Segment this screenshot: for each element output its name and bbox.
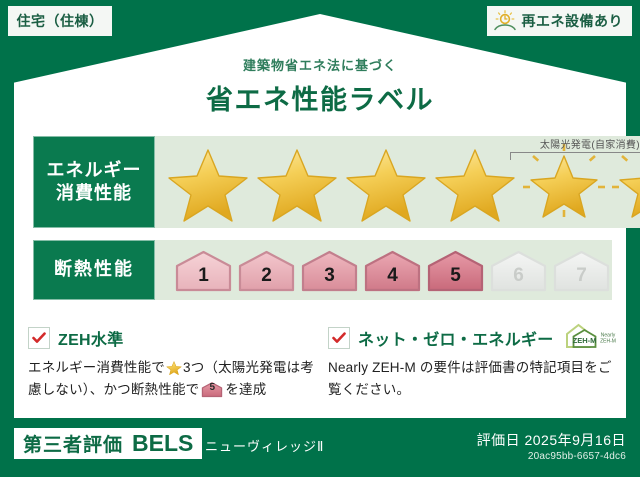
note-zeh-header: ZEH水準 [28,326,320,350]
inline-insulation-badge-value: 5 [201,381,223,398]
checkbox-net-zero-energy [328,327,350,349]
renewable-energy-label: 再エネ設備あり [522,11,624,31]
bels-plate: 第三者評価 BELS [14,428,202,459]
title-block: 建築物省エネ法に基づく 省エネ性能ラベル [0,55,640,117]
label-subtitle: 建築物省エネ法に基づく [0,55,640,74]
insulation-level-value: 7 [576,266,587,292]
energy-label-line1: エネルギー [47,159,142,182]
note-zeh-standard: ZEH水準 エネルギー消費性能で3つ（太陽光発電は考慮しない）、かつ断熱性能で5… [28,326,320,405]
building-type-label: 住宅（住棟） [17,11,104,31]
star-filled [165,142,251,222]
note-nze-header: ネット・ゼロ・エネルギー ZEH-M Nearly ZEH-M [328,326,616,350]
star-filled [254,142,340,222]
building-type-tag: 住宅（住棟） [8,6,112,36]
check-icon [332,332,346,344]
insulation-level-value: 2 [261,266,272,292]
star-filled-solar [610,142,640,222]
renewable-energy-badge: 再エネ設備あり [487,6,633,36]
star-filled [432,142,518,222]
note-nze-title: ネット・ゼロ・エネルギー [358,326,554,350]
sun-icon [492,10,518,32]
property-name: ニューヴィレッジⅡ [205,436,324,455]
note-zeh-title: ZEH水準 [58,326,124,350]
insulation-level-value: 3 [324,266,335,292]
inline-star-icon [166,360,182,375]
note-net-zero-energy: ネット・ゼロ・エネルギー ZEH-M Nearly ZEH-M Nearly Z… [328,326,616,401]
insulation-level-badge: 1 [173,249,234,292]
note-zeh-body-part3: を達成 [225,382,266,397]
zeh-m-logo-sub2: ZEH-M [600,338,616,344]
third-party-eval-label: 第三者評価 [23,430,123,457]
insulation-performance-row-label: 断熱性能 [33,240,155,300]
star-filled-solar [521,142,607,222]
zeh-m-logo: ZEH-M Nearly ZEH-M [564,323,622,354]
checkbox-zeh [28,327,50,349]
insulation-performance-row-body: 1 2 3 4 [155,240,612,300]
insulation-level-badge: 4 [362,249,423,292]
note-zeh-body-part1: エネルギー消費性能で [28,360,165,375]
bels-mark: BELS [132,430,193,457]
check-icon [32,332,46,344]
energy-performance-row-body: 太陽光発電(自家消費)分 [155,136,640,228]
energy-performance-row-label: エネルギー 消費性能 [33,136,155,228]
zeh-m-logo-main: ZEH-M [572,336,596,345]
note-nze-body: Nearly ZEH-M の要件は評価書の特記項目をご覧ください。 [328,357,616,401]
insulation-performance-row: 断熱性能 [33,240,607,300]
note-zeh-body: エネルギー消費性能で3つ（太陽光発電は考慮しない）、かつ断熱性能で5を達成 [28,357,320,405]
insulation-level-value: 6 [513,266,524,292]
footer: 第三者評価 BELS ニューヴィレッジⅡ 評価日 2025年9月16日 20ac… [0,424,640,477]
evaluation-date: 評価日 2025年9月16日 [477,430,626,450]
inline-insulation-badge: 5 [201,381,223,405]
energy-label-line2: 消費性能 [56,182,132,205]
insulation-level-badge: 5 [425,249,486,292]
insulation-level-badge: 6 [488,249,549,292]
insulation-level-badge: 3 [299,249,360,292]
energy-performance-row: エネルギー 消費性能 [33,136,607,228]
insulation-level-value: 1 [198,266,209,292]
insulation-level-value: 5 [450,266,461,292]
star-rating-strip [159,142,640,222]
page-title: 省エネ性能ラベル [0,78,640,117]
insulation-level-badge: 7 [551,249,612,292]
energy-performance-label: 住宅（住棟） 再エネ設備あり 建築物省エネ法に基づく 省エネ性能ラベル エネルギ… [0,0,640,477]
star-filled [343,142,429,222]
evaluation-id: 20ac95bb-6657-4dc6 [528,451,626,462]
insulation-level-badge: 2 [236,249,297,292]
insulation-label: 断熱性能 [54,258,134,281]
insulation-level-strip: 1 2 3 4 [173,249,612,292]
insulation-level-value: 4 [387,266,398,292]
